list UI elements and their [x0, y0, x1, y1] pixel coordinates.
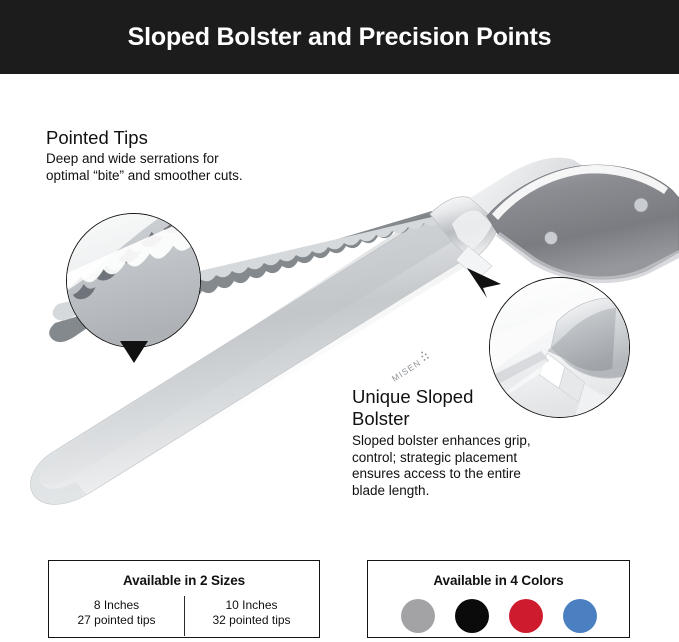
magnifier-bolster-pointer: [467, 268, 501, 298]
color-swatch-gray[interactable]: [401, 599, 435, 633]
sizes-divider: [184, 596, 185, 636]
annotation-pointed-tips-body-line-1: Deep and wide serrations for: [46, 151, 296, 168]
page-title: Sloped Bolster and Precision Points: [128, 23, 552, 52]
size-option-10-inch: 10 Inches 32 pointed tips: [184, 598, 319, 638]
size-option-10-inch-size: 10 Inches: [184, 598, 319, 613]
color-swatch-row: [368, 599, 629, 633]
svg-text:MISEN: MISEN: [390, 357, 423, 383]
annotation-sloped-bolster-heading-line-2: Bolster: [352, 408, 567, 430]
annotation-sloped-bolster-body-line-3: ensures access to the entire: [352, 466, 567, 483]
magnifier-serrations-pointer: [120, 341, 148, 363]
sizes-columns: 8 Inches 27 pointed tips 10 Inches 32 po…: [49, 598, 319, 638]
magnifier-serrations-svg: [67, 214, 200, 347]
annotation-sloped-bolster-heading-line-1: Unique Sloped: [352, 386, 567, 408]
annotation-sloped-bolster-body: Sloped bolster enhances grip, control; s…: [352, 433, 567, 499]
annotation-sloped-bolster-body-line-1: Sloped bolster enhances grip,: [352, 433, 567, 450]
annotation-sloped-bolster-heading: Unique Sloped Bolster: [352, 386, 567, 430]
sizes-info-box: Available in 2 Sizes 8 Inches 27 pointed…: [48, 560, 320, 638]
colors-info-box: Available in 4 Colors: [367, 560, 630, 638]
colors-box-title: Available in 4 Colors: [368, 573, 629, 588]
annotation-pointed-tips-body: Deep and wide serrations for optimal “bi…: [46, 151, 296, 184]
handle-rivet: [634, 198, 648, 212]
annotation-sloped-bolster: Unique Sloped Bolster Sloped bolster enh…: [352, 386, 567, 499]
brand-mark: MISEN: [389, 350, 431, 383]
color-swatch-red[interactable]: [509, 599, 543, 633]
annotation-pointed-tips-heading: Pointed Tips: [46, 127, 296, 148]
sizes-box-title: Available in 2 Sizes: [49, 573, 319, 588]
annotation-sloped-bolster-body-line-4: blade length.: [352, 483, 567, 500]
color-swatch-blue[interactable]: [563, 599, 597, 633]
annotation-pointed-tips-body-line-2: optimal “bite” and smoother cuts.: [46, 168, 296, 185]
annotation-pointed-tips: Pointed Tips Deep and wide serrations fo…: [46, 127, 296, 184]
size-option-8-inch: 8 Inches 27 pointed tips: [49, 598, 184, 638]
size-option-10-inch-tips: 32 pointed tips: [184, 613, 319, 628]
color-swatch-black[interactable]: [455, 599, 489, 633]
size-option-8-inch-size: 8 Inches: [49, 598, 184, 613]
header-bar: Sloped Bolster and Precision Points: [0, 0, 679, 74]
magnifier-serrations: [66, 213, 201, 348]
handle-rivet: [545, 232, 558, 245]
annotation-sloped-bolster-body-line-2: control; strategic placement: [352, 450, 567, 467]
size-option-8-inch-tips: 27 pointed tips: [49, 613, 184, 628]
